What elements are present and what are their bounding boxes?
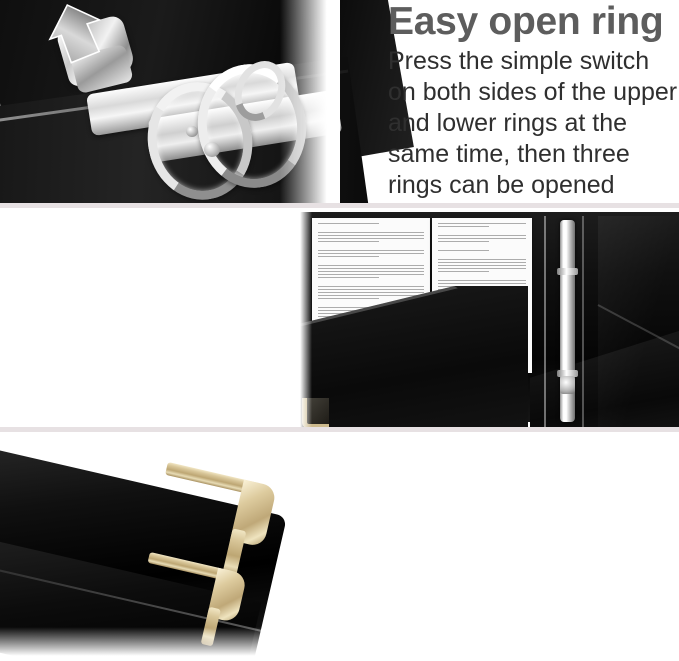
panel-1-heading: Easy open ring	[388, 2, 678, 42]
photo-right-fade	[280, 0, 340, 203]
product-infographic: Easy open ring Press the simple switch o…	[0, 0, 679, 661]
corner-guards-image	[0, 432, 340, 661]
panel-easy-open-ring: Easy open ring Press the simple switch o…	[0, 0, 679, 203]
photo-bottom-fade	[0, 627, 340, 661]
ring-screw-large	[204, 142, 220, 157]
ring-clip-upper	[557, 268, 578, 275]
binder-pockets-image	[298, 208, 679, 427]
binder-ring-mechanism-image	[0, 0, 340, 203]
panel-1-body: Press the simple switch on both sides of…	[388, 46, 678, 201]
binder-spine-crease-right	[582, 216, 584, 427]
easy-open-ring-text: Easy open ring Press the simple switch o…	[388, 2, 678, 201]
binder-spine-crease-left	[544, 216, 546, 427]
cover-gloss-sheen	[598, 216, 679, 427]
panel-built-in-pockets: Built in pockets to store loose document	[0, 208, 679, 427]
ring-screw-small	[186, 126, 198, 137]
panel-premium-corner-guards: Premium Corner Guards Not only beautiful…	[0, 432, 679, 661]
photo-left-fade	[298, 208, 312, 427]
ring-lock-knob	[560, 376, 575, 394]
binder-open-body	[298, 212, 679, 422]
